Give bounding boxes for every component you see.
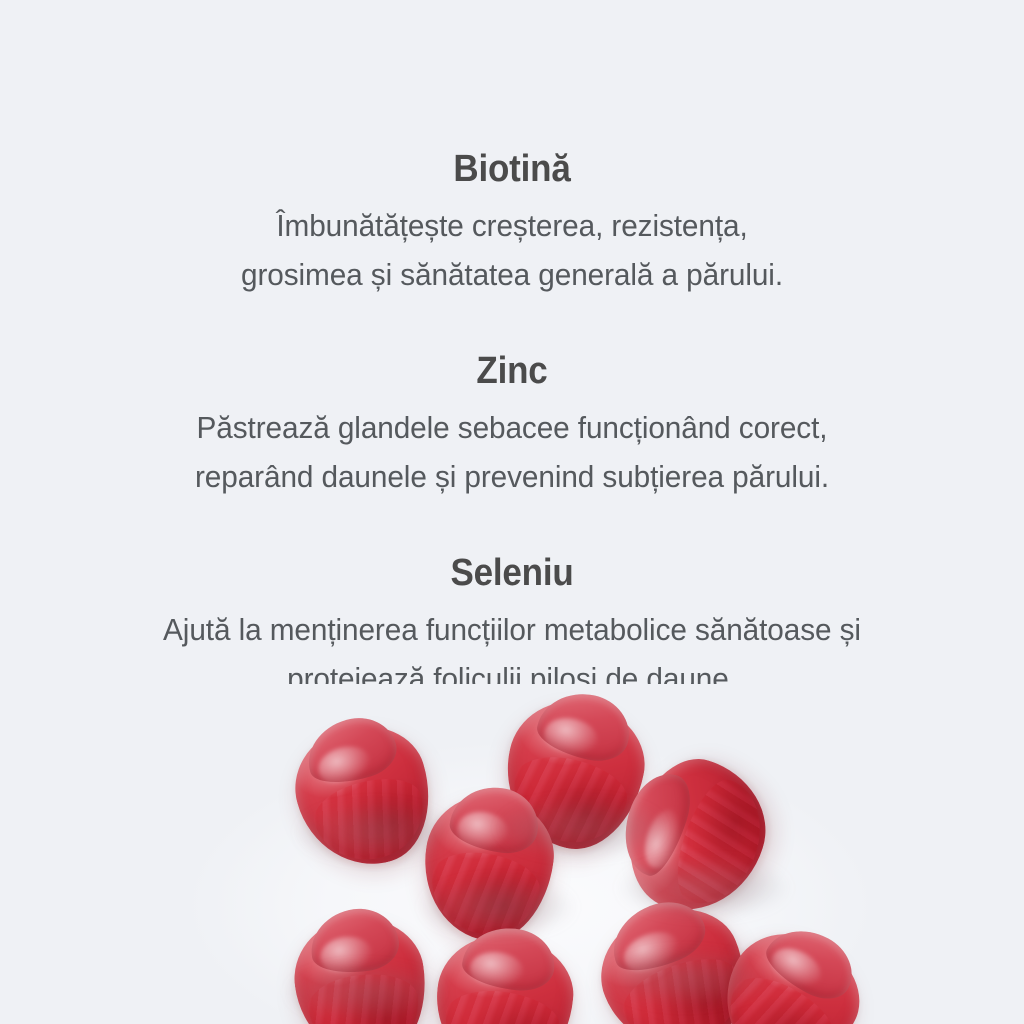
benefit-block-seleniu: Seleniu Ajută la menținerea funcțiilor m… — [0, 550, 1024, 684]
product-benefits-panel: Biotină Îmbunătățește creșterea, reziste… — [0, 0, 1024, 1024]
gummy-ridges — [440, 986, 562, 1024]
benefit-description-line: reparând daunele și prevenind subțierea … — [20, 452, 1003, 501]
gummy-product-photo — [0, 684, 1024, 1024]
benefit-description-line: Păstrează glandele sebacee funcționând c… — [20, 403, 1003, 452]
benefit-title-zinc: Zinc — [41, 348, 983, 394]
benefit-description-biotina: Îmbunătățește creșterea, rezistența, gro… — [20, 192, 1003, 299]
gummy-shadow — [608, 952, 764, 1004]
benefit-title-seleniu: Seleniu — [41, 550, 983, 596]
benefit-title-biotina: Biotină — [41, 146, 983, 192]
gummy-shadow — [500, 800, 662, 856]
benefit-description-line: grosimea și sănătatea generală a părului… — [20, 250, 1003, 299]
benefit-block-zinc: Zinc Păstrează glandele sebacee funcțion… — [0, 348, 1024, 501]
gummy-shadow — [290, 966, 440, 1018]
benefit-description-line: protejează foliculii piloși de daune. — [20, 654, 1003, 684]
gummy-shadow — [424, 880, 572, 934]
gummy-shadow — [300, 804, 450, 860]
benefit-description-zinc: Păstrează glandele sebacee funcționând c… — [20, 394, 1003, 501]
benefit-block-biotina: Biotină Îmbunătățește creșterea, reziste… — [0, 146, 1024, 299]
benefit-description-seleniu: Ajută la menținerea funcțiilor metabolic… — [20, 596, 1003, 684]
benefits-text-panel: Biotină Îmbunătățește creșterea, reziste… — [0, 0, 1024, 684]
benefit-description-line: Ajută la menținerea funcțiilor metabolic… — [20, 605, 1003, 654]
gummy-candy — [429, 929, 579, 1024]
gummy-shadow — [622, 860, 786, 916]
benefit-description-line: Îmbunătățește creșterea, rezistența, — [20, 201, 1003, 250]
